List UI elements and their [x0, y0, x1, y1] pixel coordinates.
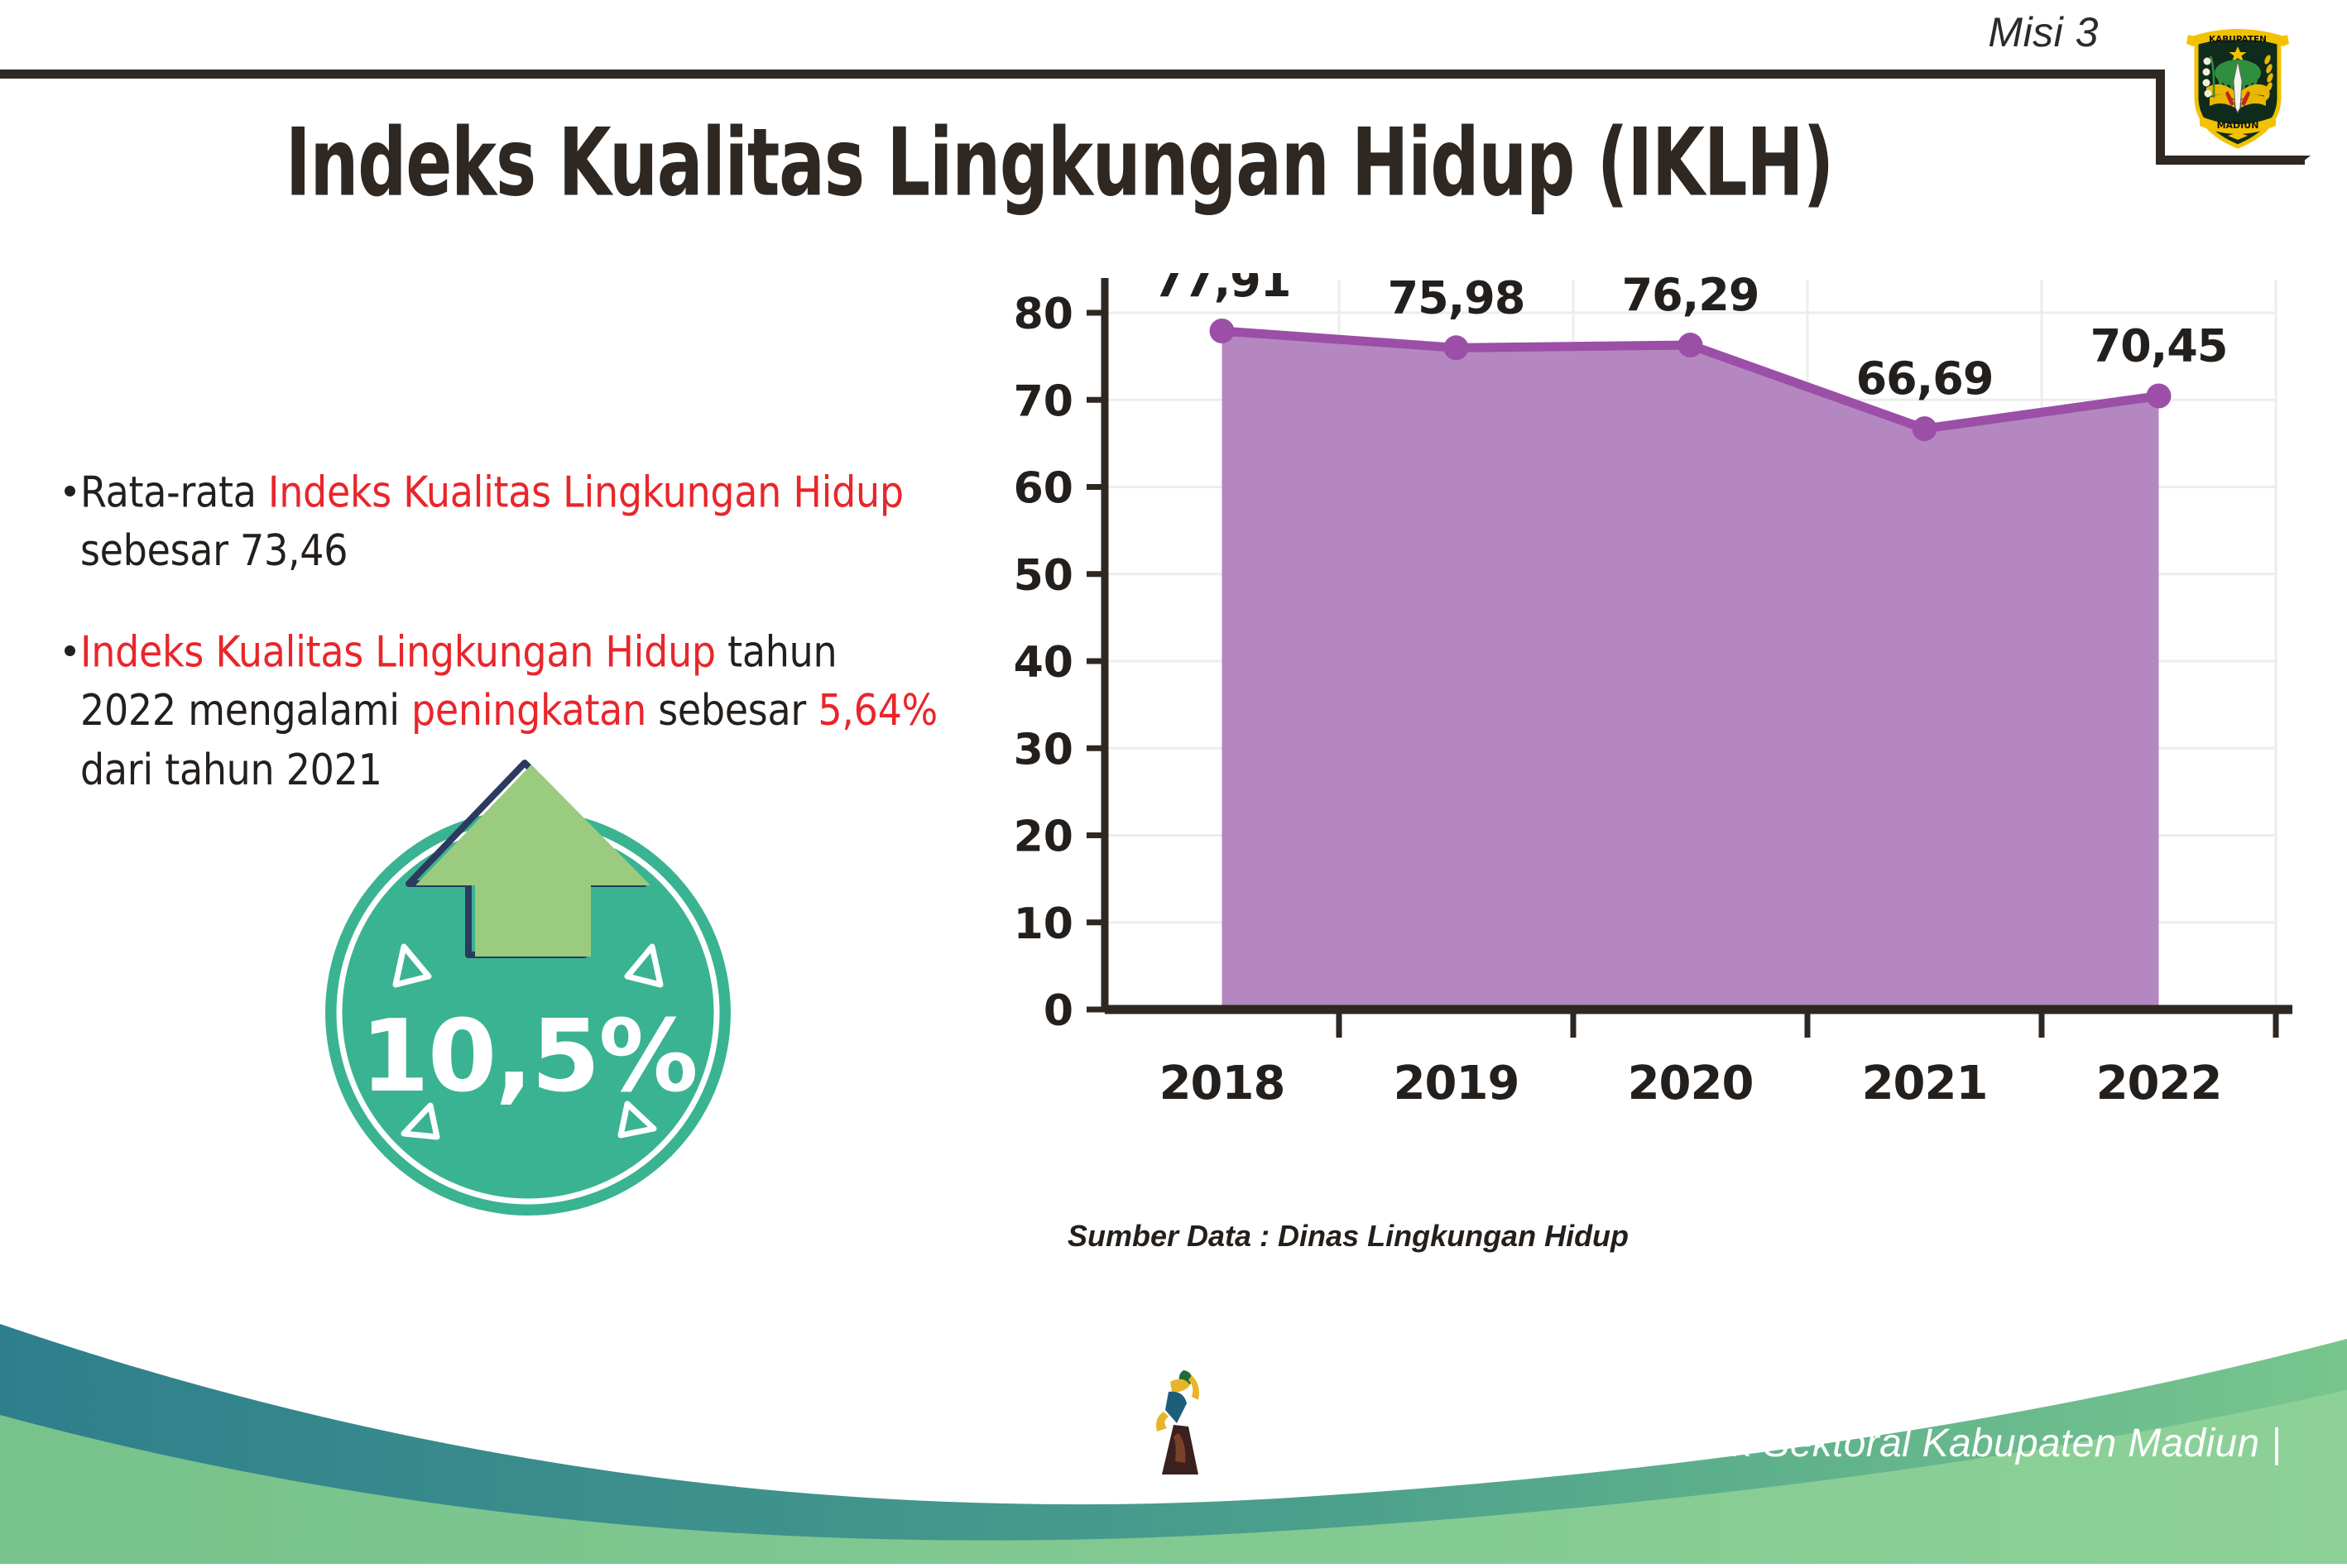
highlighted-text: peningkatan: [411, 686, 646, 736]
svg-text:KABUPATEN: KABUPATEN: [2209, 35, 2267, 45]
list-item: Rata-rata Indeks Kualitas Lingkungan Hid…: [65, 463, 942, 568]
x-tick-label: 2019: [1394, 1057, 1519, 1110]
iklh-area-chart: 01020304050607080 20182019202020212022 7…: [952, 273, 2292, 1208]
list-item-text: Rata-rata Indeks Kualitas Lingkungan Hid…: [80, 463, 942, 581]
header-bracket-horizontal: [2156, 156, 2305, 165]
x-axis: [1105, 1009, 2292, 1038]
y-tick-label: 70: [1014, 376, 1073, 426]
data-value-label: 76,29: [1622, 273, 1759, 321]
mission-label: Misi 3: [1988, 8, 2099, 56]
x-tick-label: 2020: [1628, 1057, 1754, 1110]
plain-text: Rata-rata: [80, 467, 268, 516]
header-bracket-shadow: [2299, 156, 2311, 165]
kabupaten-madiun-emblem: KABUPATEN MADIUN: [2185, 18, 2291, 151]
data-value-label: 70,45: [2090, 320, 2228, 372]
plain-text: sebesar 73,46: [80, 526, 348, 576]
y-tick-label: 80: [1014, 290, 1073, 339]
header-divider-rule: [0, 70, 2156, 79]
svg-text:MADIUN: MADIUN: [2217, 120, 2259, 131]
header-bracket-vertical: [2156, 70, 2165, 165]
x-tick-labels: 20182019202020212022: [1159, 1057, 2222, 1110]
y-tick-label: 40: [1014, 638, 1073, 688]
highlighted-text: 5,64%: [818, 686, 938, 736]
y-tick-label: 50: [1014, 551, 1073, 601]
page-title: Indeks Kualitas Lingkungan Hidup (IKLH): [53, 108, 2066, 218]
bullet-dot-icon: [65, 486, 75, 496]
y-tick-label: 20: [1014, 813, 1073, 862]
data-value-label: 66,69: [1856, 352, 1994, 405]
highlighted-text: Indeks Kualitas Lingkungan Hidup: [268, 467, 904, 516]
y-axis: [1087, 278, 1105, 1009]
data-value-label: 75,98: [1388, 273, 1525, 324]
data-value-label: 77,91: [1154, 273, 1291, 307]
increase-badge-graphic: [319, 755, 766, 1218]
area-fill: [1222, 331, 2159, 1009]
statistics-person-icon: [1140, 1364, 1215, 1488]
y-tick-labels: 01020304050607080: [1014, 290, 1073, 1036]
y-tick-label: 10: [1014, 899, 1073, 949]
footer-text: Media Infografis Data Statistik Sektoral…: [1217, 1421, 2282, 1466]
footer: Media Infografis Data Statistik Sektoral…: [0, 1291, 2347, 1564]
plain-text: sebesar: [646, 686, 818, 736]
x-tick-label: 2018: [1159, 1057, 1285, 1110]
y-tick-label: 60: [1014, 464, 1073, 514]
chart-canvas: 01020304050607080 20182019202020212022 7…: [952, 273, 2292, 1208]
y-tick-label: 30: [1014, 725, 1073, 774]
x-tick-label: 2022: [2096, 1057, 2222, 1110]
y-tick-label: 0: [1044, 986, 1073, 1036]
increase-badge: 10,5%: [319, 755, 766, 1218]
highlighted-text: Indeks Kualitas Lingkungan Hidup: [80, 626, 716, 676]
x-tick-label: 2021: [1862, 1057, 1988, 1110]
bullet-dot-icon: [65, 645, 75, 656]
chart-source-caption: Sumber Data : Dinas Lingkungan Hidup: [1068, 1219, 1629, 1254]
